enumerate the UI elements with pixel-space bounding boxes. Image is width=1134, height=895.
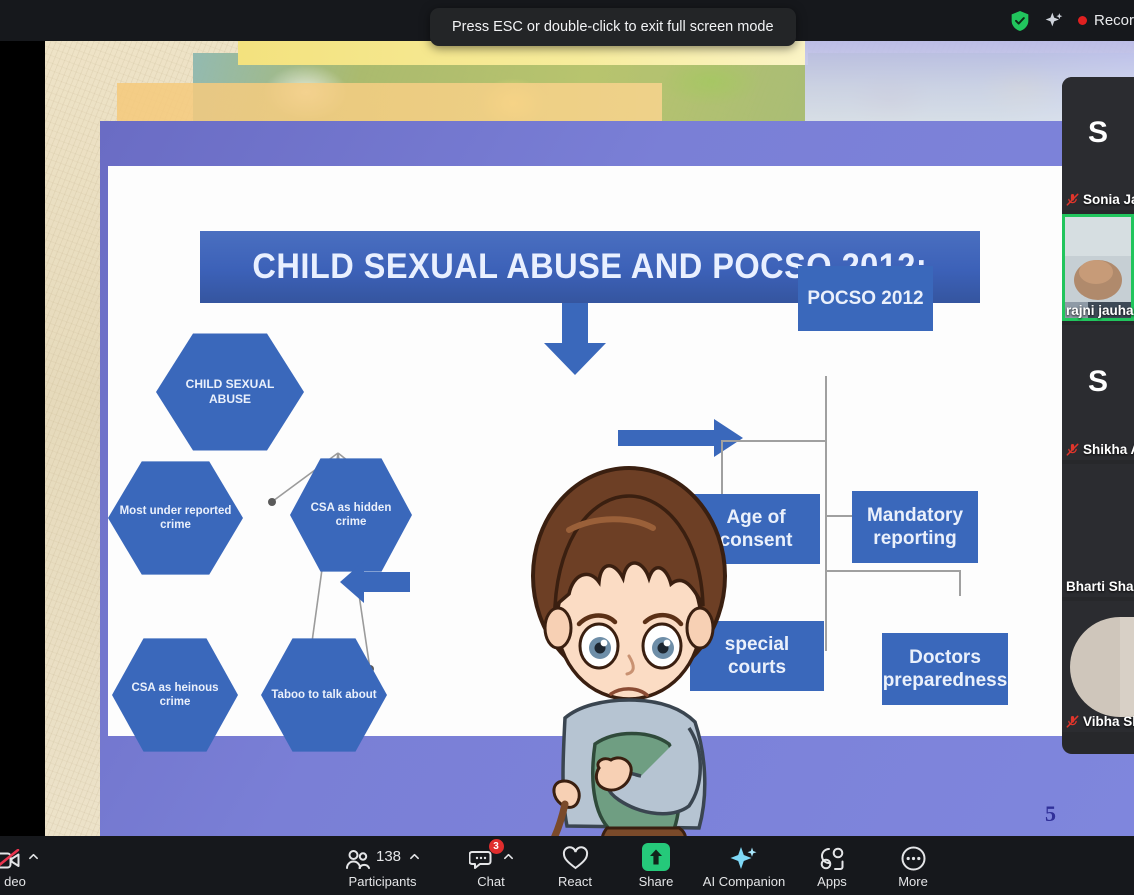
- sparkle-icon: [730, 843, 758, 871]
- chevron-up-icon[interactable]: [503, 851, 514, 862]
- toolbar-apps-button[interactable]: Apps: [805, 836, 859, 895]
- toolbar-react-button[interactable]: React: [548, 836, 602, 895]
- box-mandatory-reporting: Mandatory reporting: [852, 491, 978, 563]
- mic-muted-icon: [1066, 193, 1079, 206]
- banner-orange-strip: [117, 83, 662, 121]
- participant-tile-sonia[interactable]: S Sonia Jag: [1062, 77, 1134, 210]
- sparkle-icon[interactable]: [1044, 11, 1064, 31]
- meeting-fullscreen-window: Recor Press ESC or double-click to exit …: [0, 0, 1134, 895]
- toolbar-react-label: React: [558, 874, 592, 889]
- participant-name: Vibha Sh: [1083, 714, 1134, 729]
- participant-name-row: Sonia Jag: [1062, 192, 1134, 207]
- avatar: S: [1088, 365, 1108, 399]
- box-pocso-2012: POCSO 2012: [798, 266, 933, 331]
- participant-name: Shikha A: [1083, 442, 1134, 457]
- participant-tile-rajni[interactable]: rajni jauhari: [1062, 214, 1134, 321]
- arrow-left-icon: [340, 561, 410, 603]
- arrow-down-icon: [536, 303, 614, 378]
- participant-name: Sonia Jag: [1083, 192, 1134, 207]
- participant-tile-shikha[interactable]: S Shikha A: [1062, 325, 1134, 460]
- recording-indicator[interactable]: Recor: [1078, 12, 1134, 29]
- chevron-up-icon[interactable]: [409, 851, 420, 862]
- exit-fullscreen-toast: Press ESC or double-click to exit full s…: [430, 8, 796, 46]
- hexagon-label: Most under reported crime: [116, 504, 235, 533]
- toolbar-video-label: deo: [4, 874, 26, 889]
- box-label: Mandatory reporting: [858, 504, 972, 550]
- slide-page-number: 5: [1045, 801, 1056, 827]
- shared-screen-stage[interactable]: CHILD SEXUAL ABUSE AND POCSO 2012:: [0, 41, 1134, 836]
- box-label: POCSO 2012: [807, 287, 923, 310]
- more-dots-icon: [900, 843, 927, 871]
- box-label: Doctors preparedness: [883, 646, 1008, 692]
- chat-icon: 3: [469, 843, 495, 871]
- participant-name-row: rajni jauhari: [1062, 303, 1134, 318]
- participant-tile-vibha[interactable]: Vibha Sh: [1062, 601, 1134, 732]
- participant-video-strip[interactable]: S Sonia Jag rajni jauhari: [1062, 77, 1134, 754]
- participant-name: Bharti Sharm: [1066, 579, 1134, 594]
- hexagon-label: CSA as heinous crime: [120, 681, 230, 710]
- recording-label: Recor: [1094, 12, 1134, 29]
- toolbar-chat-button[interactable]: 3 Chat: [463, 836, 519, 895]
- chevron-up-icon[interactable]: [28, 851, 39, 862]
- avatar: S: [1088, 116, 1108, 150]
- apps-icon: [818, 843, 846, 871]
- participant-name-row: Bharti Sharm: [1062, 579, 1134, 594]
- participant-tile-bharti[interactable]: Bharti Sharm: [1062, 464, 1134, 597]
- toolbar-ai-companion-button[interactable]: AI Companion: [698, 836, 790, 895]
- toolbar-participants-label: Participants: [349, 874, 417, 889]
- recording-dot: [1078, 16, 1087, 25]
- hexagon-label: CHILD SEXUAL ABUSE: [164, 377, 296, 407]
- toolbar-ai-companion-label: AI Companion: [703, 874, 785, 889]
- toolbar-more-label: More: [898, 874, 928, 889]
- sad-boy-illustration: [503, 456, 753, 836]
- toolbar-share-label: Share: [639, 874, 674, 889]
- toolbar-chat-label: Chat: [477, 874, 504, 889]
- shield-check-icon[interactable]: [1010, 10, 1030, 32]
- top-status-right-cluster: Recor: [1010, 0, 1134, 41]
- participants-count: 138: [376, 848, 401, 865]
- participant-name-row: Shikha A: [1062, 442, 1134, 457]
- toolbar-share-button[interactable]: Share: [629, 836, 683, 895]
- toolbar-video-button[interactable]: deo: [0, 836, 58, 895]
- box-doctors-preparedness: Doctors preparedness: [882, 633, 1008, 705]
- heart-icon: [562, 843, 589, 871]
- participants-icon: [345, 843, 370, 871]
- video-off-icon: [0, 843, 20, 871]
- hexagon-label: CSA as hidden crime: [298, 501, 404, 530]
- diagram-card: CHILD SEXUAL ABUSE AND POCSO 2012:: [108, 166, 1134, 736]
- participant-video-feed: [1062, 601, 1134, 732]
- meeting-toolbar: deo 138 Participants: [0, 836, 1134, 895]
- toolbar-more-button[interactable]: More: [886, 836, 940, 895]
- chat-unread-badge: 3: [489, 839, 504, 854]
- mic-muted-icon: [1066, 715, 1079, 728]
- mic-muted-icon: [1066, 443, 1079, 456]
- participant-name-row: Vibha Sh: [1062, 714, 1134, 729]
- toolbar-apps-label: Apps: [817, 874, 847, 889]
- share-screen-icon: [642, 843, 670, 871]
- participant-name: rajni jauhari: [1066, 303, 1134, 318]
- hexagon-label: Taboo to talk about: [271, 688, 376, 702]
- presentation-slide: CHILD SEXUAL ABUSE AND POCSO 2012:: [45, 41, 1134, 836]
- toolbar-participants-button[interactable]: 138 Participants: [345, 836, 420, 895]
